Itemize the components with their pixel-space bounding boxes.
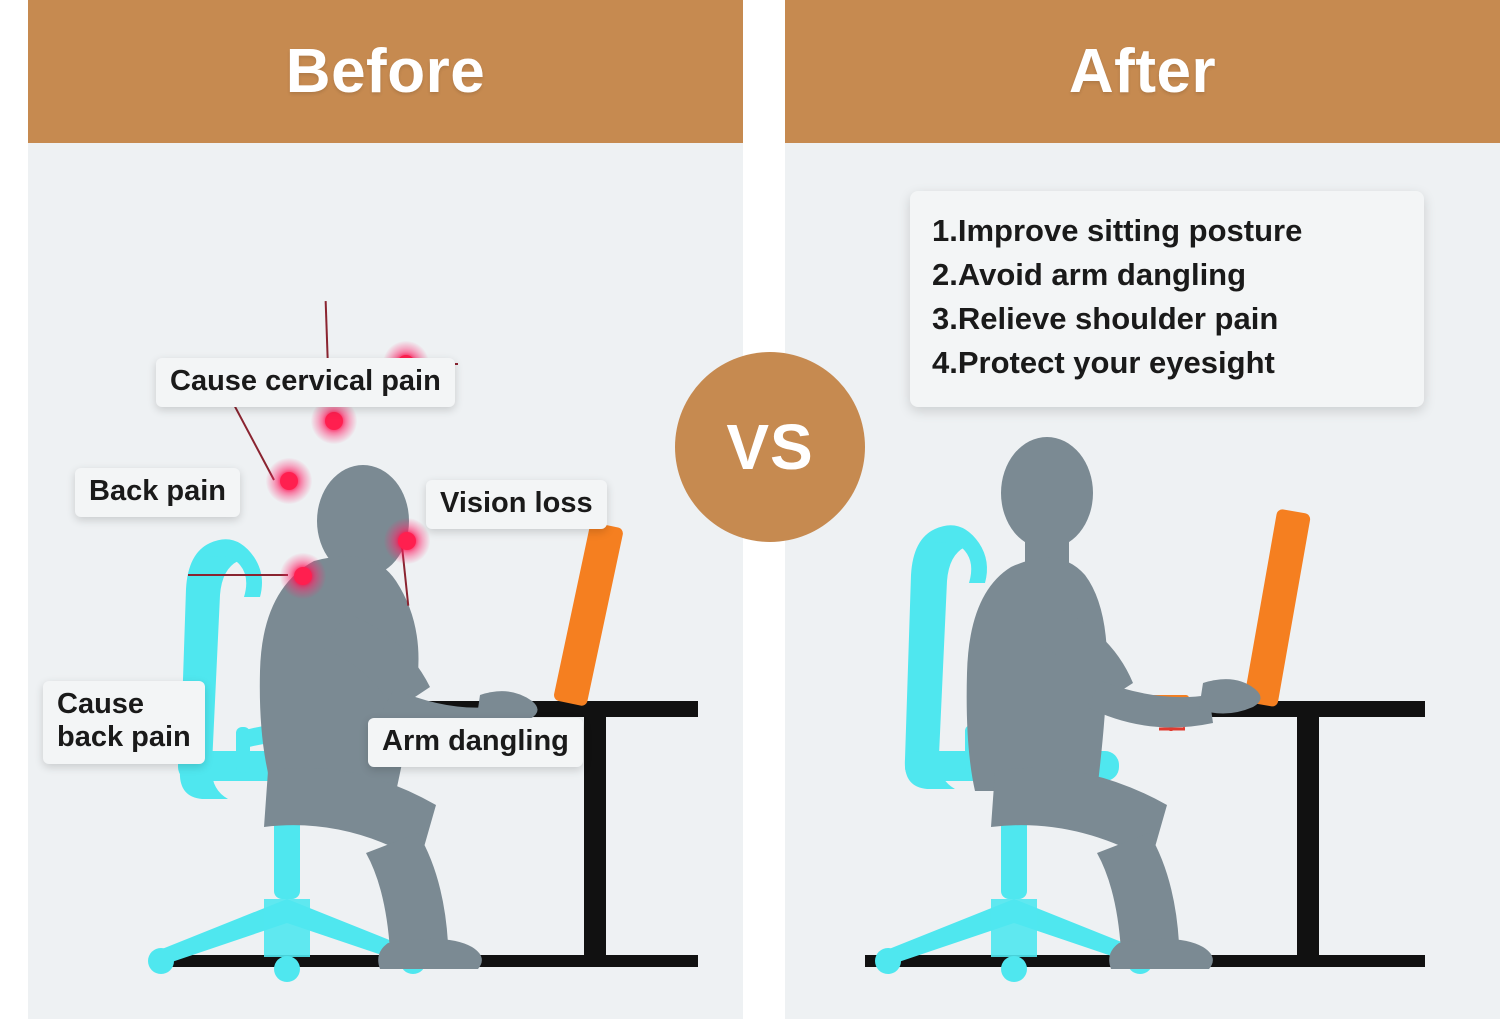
after-title: After [1069, 36, 1216, 107]
before-panel-header: Before [28, 0, 743, 143]
tip-item-2: 2.Avoid arm dangling [932, 253, 1402, 297]
vs-badge: VS [675, 352, 865, 542]
vs-label: VS [726, 410, 813, 484]
after-panel-header: After [785, 0, 1500, 143]
before-panel: Before [28, 0, 743, 1019]
callout-cause-cervical-pain: Cause cervical pain [156, 358, 455, 407]
leader-line-cause-back-pain [188, 574, 288, 576]
pain-dot-upper-back [266, 458, 312, 504]
pain-dot-lower-back [280, 553, 326, 599]
callout-arm-dangling: Arm dangling [368, 718, 583, 767]
comparison-infographic: Before [0, 0, 1500, 1019]
tip-item-1: 1.Improve sitting posture [932, 209, 1402, 253]
callout-vision-loss-text: Vision loss [440, 487, 593, 519]
callout-back-pain: Back pain [75, 468, 240, 517]
after-panel-body: 1.Improve sitting posture 2.Avoid arm da… [785, 143, 1500, 1019]
callout-cervical-text: Cause cervical pain [170, 365, 441, 397]
after-tips-card: 1.Improve sitting posture 2.Avoid arm da… [910, 191, 1424, 407]
callout-cause-back-pain: Cause back pain [43, 681, 205, 764]
after-panel: After [785, 0, 1500, 1019]
callout-back-pain-text: Back pain [89, 475, 226, 507]
callout-vision-loss: Vision loss [426, 480, 607, 529]
before-illustration [28, 143, 743, 1019]
callout-arm-dangling-text: Arm dangling [382, 725, 569, 757]
pain-dot-arm [384, 518, 430, 564]
before-title: Before [286, 36, 485, 107]
tip-item-3: 3.Relieve shoulder pain [932, 297, 1402, 341]
callout-cause-back-pain-line1: Cause [57, 688, 191, 721]
before-panel-body: Cause cervical pain Back pain Vision los… [28, 143, 743, 1019]
callout-cause-back-pain-line2: back pain [57, 721, 191, 754]
tip-item-4: 4.Protect your eyesight [932, 341, 1402, 385]
